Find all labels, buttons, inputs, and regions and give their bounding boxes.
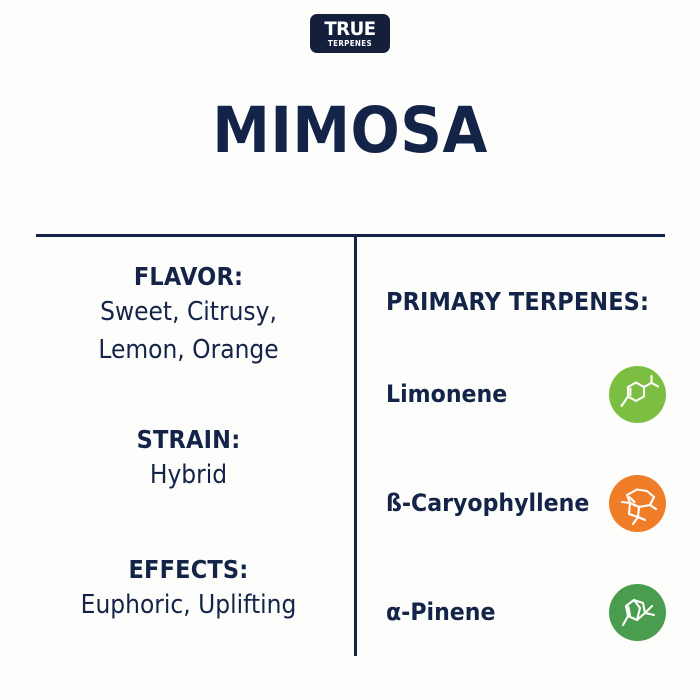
brand-logo: TRUE TERPENES [0, 14, 700, 53]
page-title: MIMOSA [28, 99, 672, 162]
strain-block: STRAIN: Hybrid [36, 425, 341, 493]
terpene-name: α-Pinene [386, 599, 495, 625]
strain-info-card: TRUE TERPENES MIMOSA FLAVOR: Sweet, Citr… [0, 0, 700, 700]
terpene-name: Limonene [386, 381, 507, 407]
flavor-value-line-1: Sweet, Citrusy, [51, 295, 326, 330]
brand-logo-secondary-text: TERPENES [328, 40, 372, 48]
terpene-row: α-Pinene [386, 584, 666, 641]
terpene-row: ß-Caryophyllene [386, 475, 666, 532]
effects-value: Euphoric, Uplifting [51, 588, 326, 623]
brand-logo-box: TRUE TERPENES [310, 14, 390, 53]
attributes-column: FLAVOR: Sweet, Citrusy, Lemon, Orange ST… [36, 262, 341, 622]
flavor-heading: FLAVOR: [51, 262, 326, 292]
effects-block: EFFECTS: Euphoric, Uplifting [36, 555, 341, 623]
effects-heading: EFFECTS: [51, 555, 326, 585]
terpenes-heading: PRIMARY TERPENES: [386, 288, 638, 316]
vertical-divider [354, 236, 357, 656]
brand-logo-primary-text: TRUE [324, 20, 375, 39]
pinene-molecule-icon [609, 584, 666, 641]
flavor-value-line-2: Lemon, Orange [51, 333, 326, 368]
caryophyllene-molecule-icon [609, 475, 666, 532]
flavor-block: FLAVOR: Sweet, Citrusy, Lemon, Orange [36, 262, 341, 367]
strain-value: Hybrid [51, 458, 326, 493]
horizontal-divider [36, 234, 665, 237]
terpene-name: ß-Caryophyllene [386, 490, 589, 516]
strain-heading: STRAIN: [51, 425, 326, 455]
terpenes-column: PRIMARY TERPENES: Limonene ß-Caryophyll [386, 288, 666, 641]
terpene-row: Limonene [386, 366, 666, 423]
limonene-molecule-icon [609, 366, 666, 423]
